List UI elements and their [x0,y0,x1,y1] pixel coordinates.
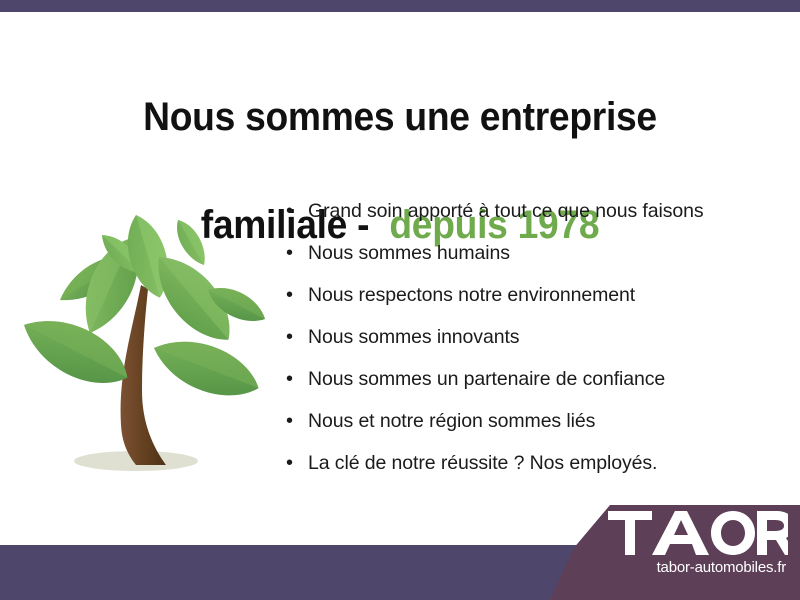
list-item: • Nous sommes innovants [286,316,786,358]
brand-logo-panel: tabor-automobiles.fr [550,505,800,600]
list-item: • Nous respectons notre environnement [286,274,786,316]
list-item-label: Grand soin apporté à tout ce que nous fa… [308,190,704,232]
list-item-label: Nous sommes humains [308,232,510,274]
slide-canvas: Nous sommes une entreprise familiale - d… [0,0,800,600]
list-item: • Nous sommes humains [286,232,786,274]
list-item-label: Nous respectons notre environnement [308,274,635,316]
bullet-icon: • [286,358,308,400]
tree-illustration [18,185,273,490]
list-item-label: Nous sommes un partenaire de confiance [308,358,665,400]
list-item: • Grand soin apporté à tout ce que nous … [286,190,786,232]
tree-trunk [121,285,166,465]
brand-logo-inner: tabor-automobiles.fr [550,505,800,600]
headline-line-1: Nous sommes une entreprise [28,90,772,144]
value-list: • Grand soin apporté à tout ce que nous … [286,190,786,484]
list-item-label: Nous et notre région sommes liés [308,400,595,442]
bullet-icon: • [286,316,308,358]
tabor-wordmark-logo [608,509,788,557]
bullet-icon: • [286,190,308,232]
list-item: • La clé de notre réussite ? Nos employé… [286,442,786,484]
list-item: • Nous sommes un partenaire de confiance [286,358,786,400]
bullet-icon: • [286,274,308,316]
bullet-icon: • [286,232,308,274]
bullet-icon: • [286,400,308,442]
bullet-icon: • [286,442,308,484]
top-accent-bar [0,0,800,12]
brand-website-url: tabor-automobiles.fr [550,559,800,576]
list-item-label: Nous sommes innovants [308,316,519,358]
list-item-label: La clé de notre réussite ? Nos employés. [308,442,657,484]
list-item: • Nous et notre région sommes liés [286,400,786,442]
